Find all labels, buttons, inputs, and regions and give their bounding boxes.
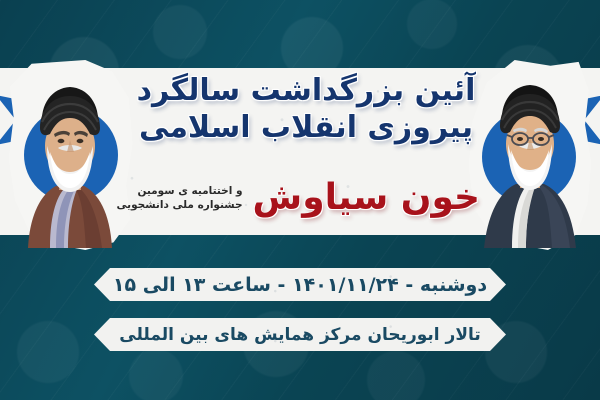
festival-row: خون سیاوش و اختتامیه ی سومین جشنواره ملی… <box>130 178 480 218</box>
figure-illustration-left <box>6 60 134 250</box>
venue-text: تالار ابوریحان مرکز همایش های بین المللی <box>119 325 481 345</box>
figure-illustration-right <box>466 60 594 250</box>
festival-subtitle: و اختتامیه ی سومین جشنواره ملی دانشجویی <box>117 184 243 212</box>
date-time-ribbon: دوشنبه - ۱۴۰۱/۱۱/۲۴ - ساعت ۱۳ الی ۱۵ <box>94 268 506 301</box>
festival-subtitle-line-1: و اختتامیه ی سومین <box>117 184 243 198</box>
venue-ribbon: تالار ابوریحان مرکز همایش های بین المللی <box>94 318 506 351</box>
headline-line-2: پیروزی انقلاب اسلامی <box>130 110 482 146</box>
portrait-khamenei <box>466 60 594 250</box>
headline-line-1: آئین بزرگداشت سالگرد <box>130 74 482 108</box>
festival-title: خون سیاوش <box>253 178 480 218</box>
portrait-khomeini <box>6 60 134 250</box>
date-time-text: دوشنبه - ۱۴۰۱/۱۱/۲۴ - ساعت ۱۳ الی ۱۵ <box>113 274 487 296</box>
headline-block: آئین بزرگداشت سالگرد پیروزی انقلاب اسلام… <box>130 74 482 146</box>
event-poster: آئین بزرگداشت سالگرد پیروزی انقلاب اسلام… <box>0 0 600 400</box>
festival-subtitle-line-2: جشنواره ملی دانشجویی <box>117 198 243 212</box>
